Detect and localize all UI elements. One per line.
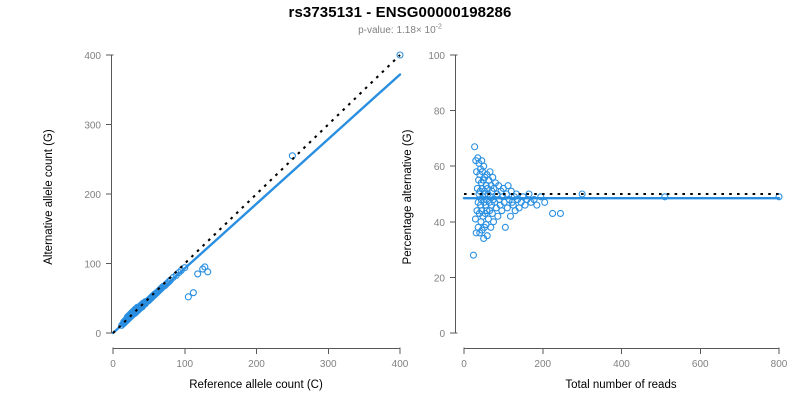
right-x-tick-label: 200 bbox=[534, 359, 551, 370]
right-y-ticks bbox=[450, 55, 456, 333]
right-y-tick-label: 100 bbox=[428, 51, 445, 62]
data-point bbox=[195, 271, 201, 277]
right-x-tick-label: 800 bbox=[771, 359, 788, 370]
data-point bbox=[502, 224, 508, 230]
data-point bbox=[542, 199, 548, 205]
right-x-tick-label: 400 bbox=[613, 359, 630, 370]
right-x-ticks bbox=[464, 349, 779, 355]
left-x-tick-label: 400 bbox=[392, 359, 409, 370]
left-y-tick-label: 0 bbox=[95, 329, 101, 340]
left-x-tick-label: 100 bbox=[176, 359, 193, 370]
left-x-axis-title: Reference allele count (C) bbox=[189, 379, 323, 391]
data-point bbox=[470, 252, 476, 258]
left-y-axis-title: Alternative allele count (G) bbox=[43, 129, 55, 265]
data-point bbox=[557, 210, 563, 216]
right-y-tick-label: 80 bbox=[434, 107, 446, 118]
left-y-tick-labels: 0 100 200 300 400 bbox=[84, 51, 101, 340]
left-x-tick-label: 0 bbox=[110, 359, 116, 370]
plot-canvas: 0 100 200 300 400 Alternative allele cou… bbox=[0, 0, 800, 400]
data-point bbox=[495, 213, 501, 219]
right-y-tick-labels: 0 20 40 60 80 100 bbox=[428, 51, 445, 340]
left-y-tick-label: 100 bbox=[84, 260, 101, 271]
right-y-tick-label: 60 bbox=[434, 162, 446, 173]
data-point bbox=[491, 219, 497, 225]
data-point bbox=[472, 144, 478, 150]
left-regression-line bbox=[113, 74, 400, 333]
left-y-ticks bbox=[106, 55, 112, 333]
right-panel-scatter: 0 20 40 60 80 100 Percentage alternative… bbox=[402, 51, 788, 391]
left-panel-scatter: 0 100 200 300 400 Alternative allele cou… bbox=[43, 51, 409, 391]
right-x-axis-title: Total number of reads bbox=[565, 379, 676, 391]
right-y-tick-label: 20 bbox=[434, 273, 446, 284]
right-x-tick-label: 600 bbox=[692, 359, 709, 370]
left-x-tick-labels: 0 100 200 300 400 bbox=[110, 359, 409, 370]
right-data-points bbox=[470, 144, 782, 258]
right-x-tick-labels: 0 200 400 600 800 bbox=[461, 359, 788, 370]
right-x-tick-label: 0 bbox=[461, 359, 467, 370]
left-y-tick-label: 400 bbox=[84, 51, 101, 62]
data-point bbox=[504, 205, 510, 211]
right-y-tick-label: 0 bbox=[439, 329, 445, 340]
data-point bbox=[190, 290, 196, 296]
left-y-tick-label: 300 bbox=[84, 121, 101, 132]
right-y-tick-label: 40 bbox=[434, 218, 446, 229]
data-point bbox=[505, 183, 511, 189]
allelic-imbalance-figure: rs3735131 - ENSG00000198286 p-value: 1.1… bbox=[0, 0, 800, 400]
left-y-tick-label: 200 bbox=[84, 190, 101, 201]
data-point bbox=[534, 202, 540, 208]
data-point bbox=[507, 213, 513, 219]
right-y-axis-line bbox=[455, 55, 458, 333]
left-x-tick-label: 200 bbox=[248, 359, 265, 370]
left-x-ticks bbox=[113, 349, 400, 355]
left-x-tick-label: 300 bbox=[320, 359, 337, 370]
data-point bbox=[185, 294, 191, 300]
data-point bbox=[550, 210, 556, 216]
data-point bbox=[205, 269, 211, 275]
right-y-axis-title: Percentage alternative (G) bbox=[402, 129, 414, 264]
